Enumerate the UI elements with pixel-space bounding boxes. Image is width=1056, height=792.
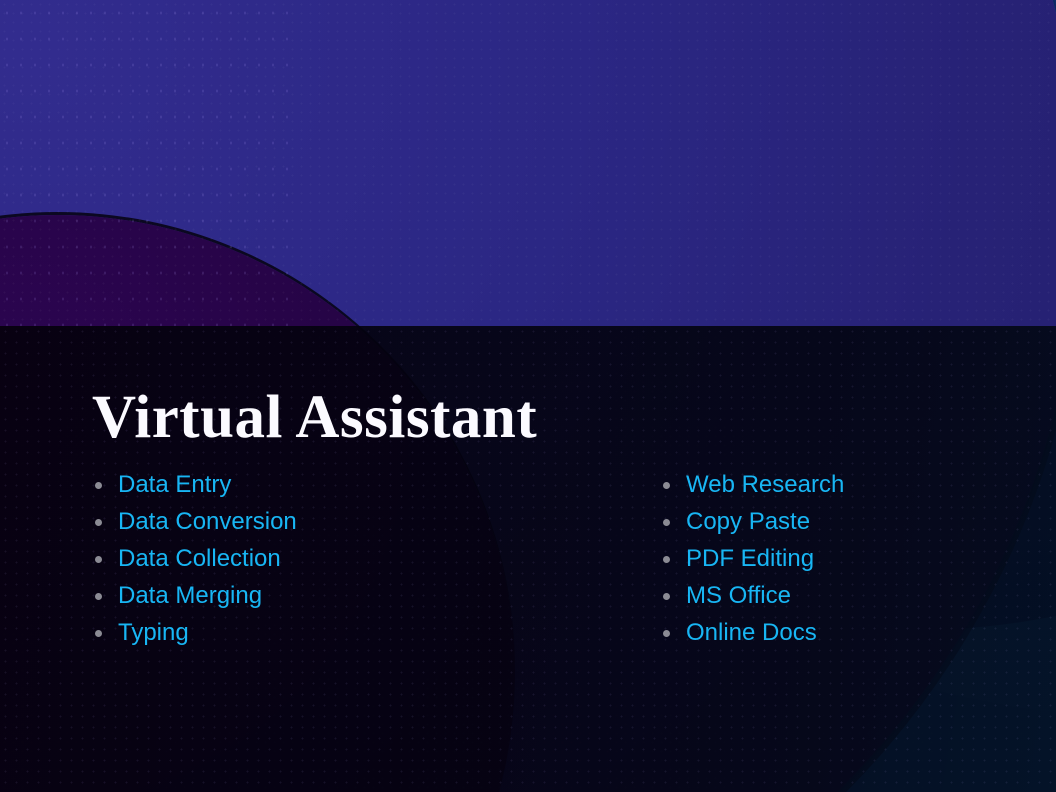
list-item[interactable]: Data Entry: [92, 472, 660, 498]
list-item-label: MS Office: [686, 582, 791, 609]
bullet-dot-icon: [95, 519, 102, 526]
right-services-list: Web Research Copy Paste PDF Editing MS O…: [660, 472, 1056, 646]
bullet-dot-icon: [663, 593, 670, 600]
list-item[interactable]: Typing: [92, 620, 660, 646]
list-item[interactable]: Data Conversion: [92, 509, 660, 535]
list-item-label: PDF Editing: [686, 545, 814, 572]
left-services-list: Data Entry Data Conversion Data Collecti…: [92, 472, 660, 646]
bullet-dot-icon: [95, 482, 102, 489]
list-item-label: Online Docs: [686, 619, 817, 646]
list-item[interactable]: Data Merging: [92, 583, 660, 609]
bullet-dot-icon: [95, 630, 102, 637]
art-halftone-texture-corner: [0, 0, 300, 330]
list-item-label: Copy Paste: [686, 508, 810, 535]
slide-content: Virtual Assistant Data Entry Data Conver…: [0, 326, 1056, 792]
bullet-dot-icon: [663, 482, 670, 489]
bullet-dot-icon: [95, 556, 102, 563]
services-columns: Data Entry Data Conversion Data Collecti…: [0, 472, 1056, 657]
list-item-label: Data Merging: [118, 582, 262, 609]
bullet-dot-icon: [663, 556, 670, 563]
list-item[interactable]: PDF Editing: [660, 546, 1056, 572]
slide-title: Virtual Assistant: [92, 387, 537, 448]
bullet-dot-icon: [663, 630, 670, 637]
bullet-dot-icon: [95, 593, 102, 600]
list-item[interactable]: Data Collection: [92, 546, 660, 572]
list-item-label: Data Collection: [118, 545, 281, 572]
list-item[interactable]: Online Docs: [660, 620, 1056, 646]
list-item[interactable]: Web Research: [660, 472, 1056, 498]
bullet-dot-icon: [663, 519, 670, 526]
list-item[interactable]: MS Office: [660, 583, 1056, 609]
right-services-column: Web Research Copy Paste PDF Editing MS O…: [660, 472, 1056, 657]
list-item[interactable]: Copy Paste: [660, 509, 1056, 535]
left-services-column: Data Entry Data Conversion Data Collecti…: [0, 472, 660, 657]
presentation-slide: Virtual Assistant Data Entry Data Conver…: [0, 0, 1056, 792]
list-item-label: Data Entry: [118, 471, 231, 498]
list-item-label: Typing: [118, 619, 189, 646]
list-item-label: Data Conversion: [118, 508, 297, 535]
list-item-label: Web Research: [686, 471, 844, 498]
